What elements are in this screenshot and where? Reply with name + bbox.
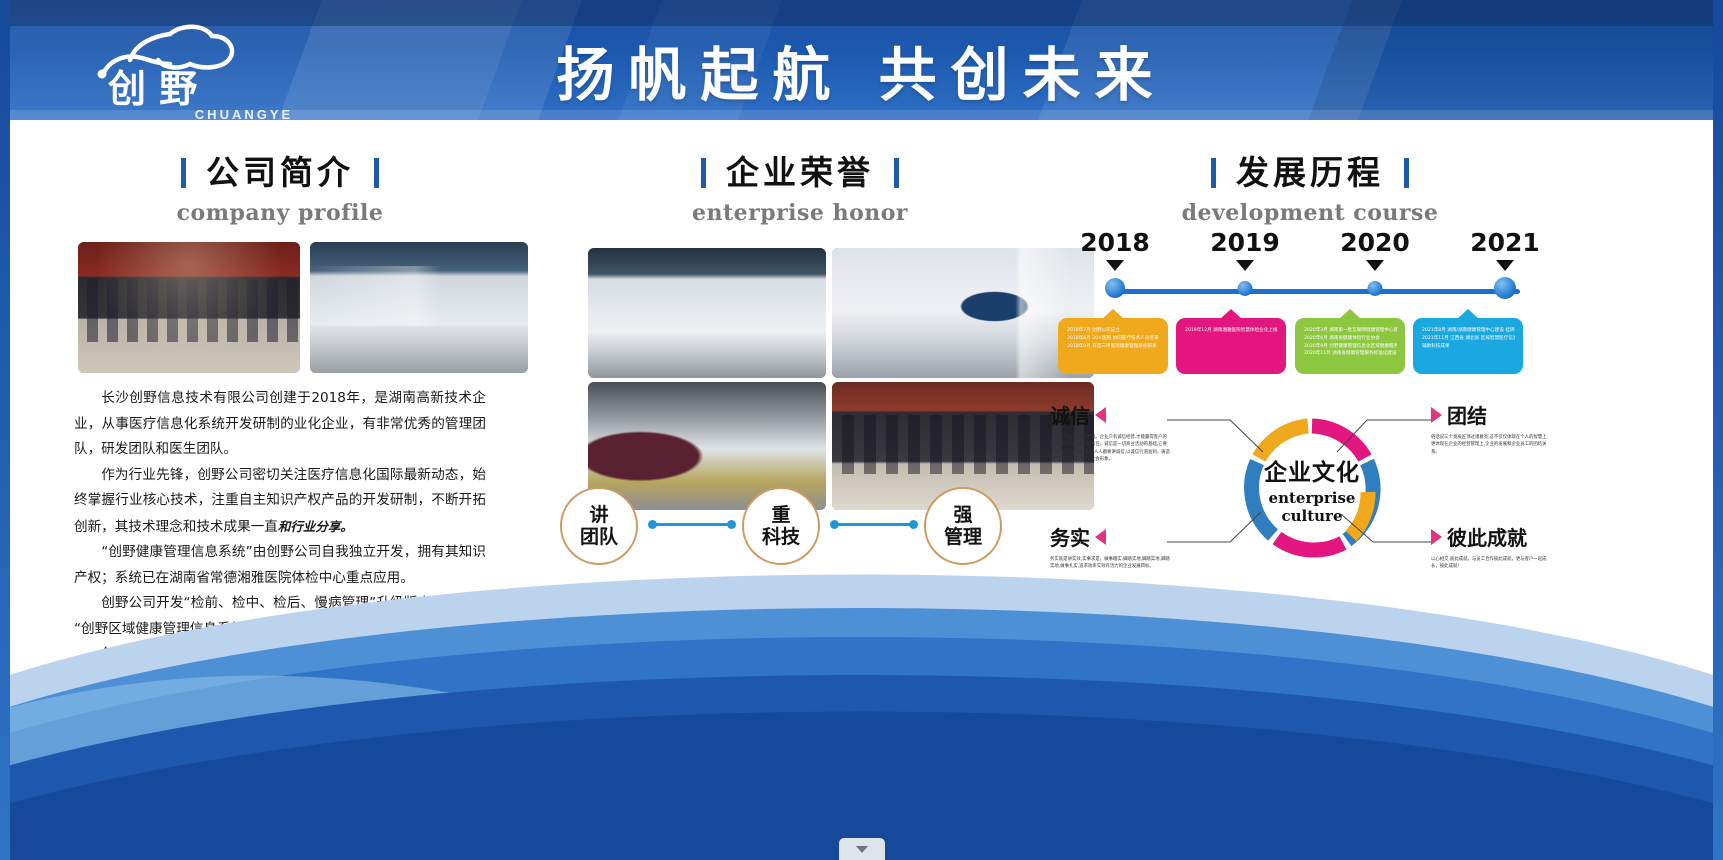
timeline-caret-icon [1106,260,1124,271]
scroll-down-button[interactable] [839,838,885,860]
culture-item-integrity: 诚信 人无信不立,企无信不强。企业只有诚信经营,才能赢得客户的信赖,赢得合作伙伴… [1050,400,1170,464]
culture-item-title: 诚信 [1050,400,1170,429]
honor-photo-1 [588,248,826,378]
arrow-left-icon [1095,407,1106,423]
timeline-card-2018: 2018年7月 创野公司成立 2018年8月 20+医院 协同医疗技术人员签署 … [1058,318,1168,374]
poster-header: 创 野 CHUANGYE 扬帆起航 共创未来 [0,0,1723,120]
timeline-year: 2019 [1210,228,1280,257]
section-title-en: development course [1110,200,1510,226]
section-heading-course: 发展历程 development course [1110,146,1510,226]
connector-line [835,523,911,526]
timeline-year: 2021 [1470,228,1540,257]
section-title-cn: 发展历程 [1110,146,1510,194]
timeline-caret-icon [1496,260,1514,271]
chevron-down-icon [856,846,868,853]
arrow-right-icon [1431,529,1442,545]
timeline-year: 2018 [1080,228,1150,257]
card-notch [1220,309,1242,319]
right-edge-strip [1713,0,1723,860]
card-notch [1339,309,1361,319]
title-bar-right [374,158,379,188]
poster-canvas: 创 野 CHUANGYE 扬帆起航 共创未来 公司简介 company prof… [0,0,1723,860]
timeline-card-2020: 2020年3月 湖南第一批互联网健康管理中心建设 2020年6月 湖南省健康体检… [1295,318,1405,374]
timeline-node [1368,281,1383,296]
value-circle-3: 强管理 [924,487,1002,565]
timeline-node [1238,281,1253,296]
bottom-wave-decoration [0,560,1723,860]
culture-item-title: 务实 [1050,522,1170,551]
timeline-node [1105,278,1125,298]
page-title: 扬帆起航 共创未来 [0,28,1723,112]
card-notch [1102,309,1124,319]
section-heading-profile: 公司简介 company profile [80,146,480,226]
timeline-card-2019: 2019年12月 湖南湘雅医院智慧体检业化上线 [1176,318,1286,374]
arrow-right-icon [1431,407,1442,423]
profile-paragraph: 长沙创野信息技术有限公司创建于2018年，是湖南高新技术企业，从事医疗信息化系统… [74,386,486,463]
culture-item-unity: 团结 俗话说三个臭皮匠顶过诸葛亮,这不仅仅体现在个人的智慧上,更体现在企业的经营… [1431,400,1549,456]
section-title-cn: 公司简介 [80,146,480,194]
left-edge-strip [0,0,10,860]
timeline-axis [1110,289,1520,294]
header-top-shade [0,0,1723,26]
timeline-card-2021: 2021年8月 湖南/湖南健康管理中心建设 挂牌 2021年11月 江西省 湖北… [1413,318,1523,374]
section-heading-honor: 企业荣誉 enterprise honor [600,146,1000,226]
title-bar-right [894,158,899,188]
connector-dot [727,520,736,529]
card-notch [1457,309,1479,319]
culture-item-title: 彼此成就 [1431,522,1549,551]
title-bar-left [1211,158,1216,188]
profile-photo-group [78,242,300,373]
timeline-caret-icon [1236,260,1254,271]
timeline-caret-icon [1366,260,1384,271]
arrow-left-icon [1095,529,1106,545]
section-title-en: enterprise honor [600,200,1000,226]
timeline-year: 2020 [1340,228,1410,257]
connector-dot [909,520,918,529]
value-circle-1: 讲团队 [560,487,638,565]
title-bar-left [181,158,186,188]
handwriting-phrase: 和行业分享。 [278,519,353,534]
section-title-en: company profile [80,200,480,226]
section-title-cn: 企业荣誉 [600,146,1000,194]
title-bar-right [1404,158,1409,188]
development-timeline: 2018 2019 2020 2021 2018年7月 创野公司成立 2018年… [1055,228,1525,378]
culture-item-body: 人无信不立,企无信不强。企业只有诚信经营,才能赢得客户的信赖,赢得合作伙伴的信任… [1050,434,1170,464]
value-circle-2: 重科技 [742,487,820,565]
title-bar-left [701,158,706,188]
timeline-node [1494,277,1516,299]
profile-paragraph: 作为行业先锋，创野公司密切关注医疗信息化国际最新动态，始终掌握行业核心技术，注重… [74,463,486,541]
profile-photo-office [310,242,528,373]
connector-line [653,523,729,526]
culture-item-body: 俗话说三个臭皮匠顶过诸葛亮,这不仅仅体现在个人的智慧上,更体现在企业的经营管理上… [1431,434,1549,456]
culture-item-title: 团结 [1431,400,1549,429]
